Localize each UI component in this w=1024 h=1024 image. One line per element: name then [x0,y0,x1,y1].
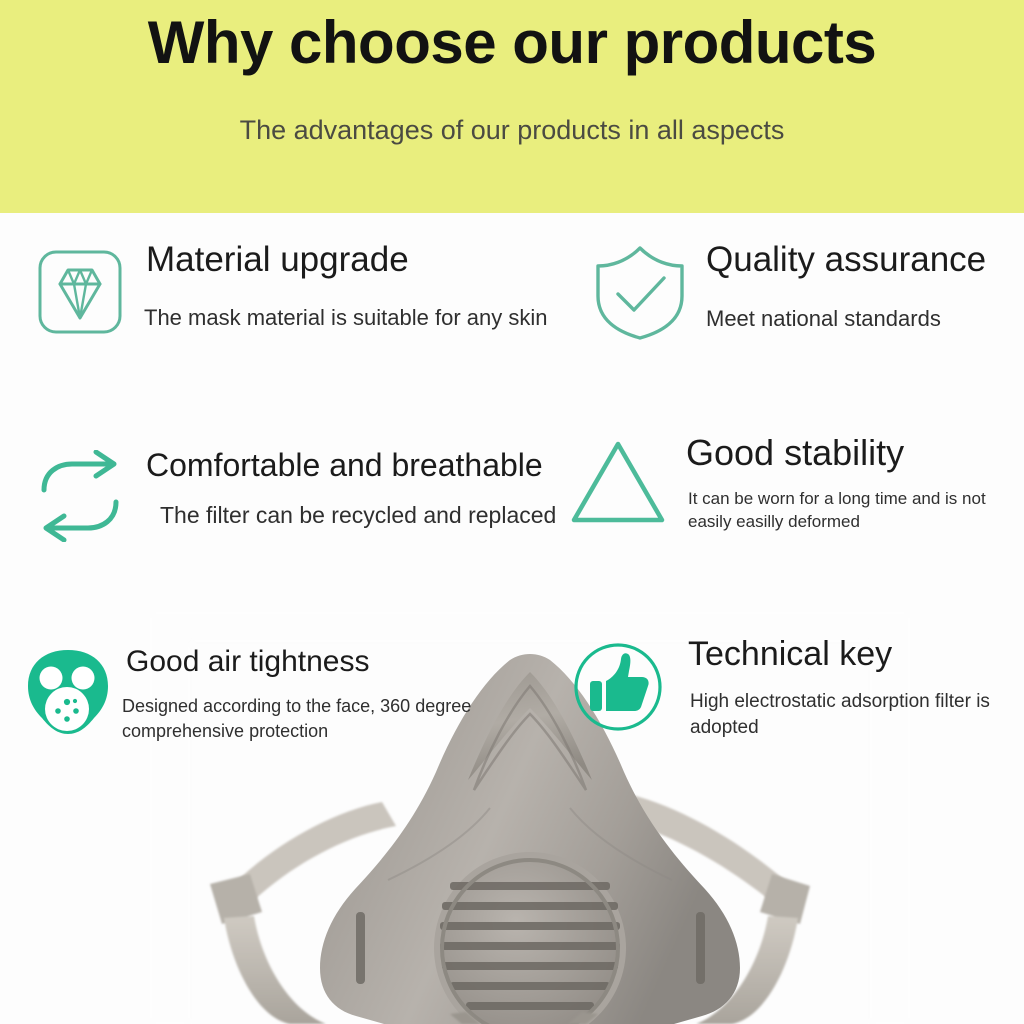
feature-title: Technical key [688,637,892,673]
header-band: Why choose our products The advantages o… [0,0,1024,213]
feature-title: Good stability [686,434,904,472]
feature-title: Comfortable and breathable [146,449,543,483]
feature-title: Good air tightness [126,646,369,678]
page-title: Why choose our products [0,8,1024,77]
feature-title: Material upgrade [146,242,409,279]
feature-item-technical-key: Technical key High electrostatic adsorpt… [568,637,1024,743]
feature-title: Quality assurance [706,242,986,279]
feature-item-comfortable-breathable: Comfortable and breathable The filter ca… [34,450,574,550]
feature-item-good-air-tightness: Good air tightness Designed according to… [22,646,562,752]
recycle-arrows-icon [34,450,126,542]
page-subtitle: The advantages of our products in all as… [0,115,1024,146]
feature-description: Meet national standards [706,304,941,334]
promo-page: Why choose our products The advantages o… [0,0,1024,1024]
gas-mask-icon [22,646,114,738]
feature-description: The mask material is suitable for any sk… [144,303,548,333]
shield-check-icon [592,242,688,342]
diamond-in-rounded-square-icon [34,246,126,338]
feature-description: High electrostatic adsorption filter is … [690,689,1010,741]
feature-description: Designed according to the face, 360 degr… [122,694,502,744]
thumbs-up-in-circle-icon [568,637,668,737]
feature-item-material-upgrade: Material upgrade The mask material is su… [34,246,574,358]
feature-description: It can be worn for a long time and is no… [688,487,1018,534]
feature-item-good-stability: Good stability It can be worn for a long… [566,434,1024,544]
feature-description: The filter can be recycled and replaced [160,500,556,532]
feature-item-quality-assurance: Quality assurance Meet national standard… [592,242,1012,354]
triangle-icon [566,434,670,530]
